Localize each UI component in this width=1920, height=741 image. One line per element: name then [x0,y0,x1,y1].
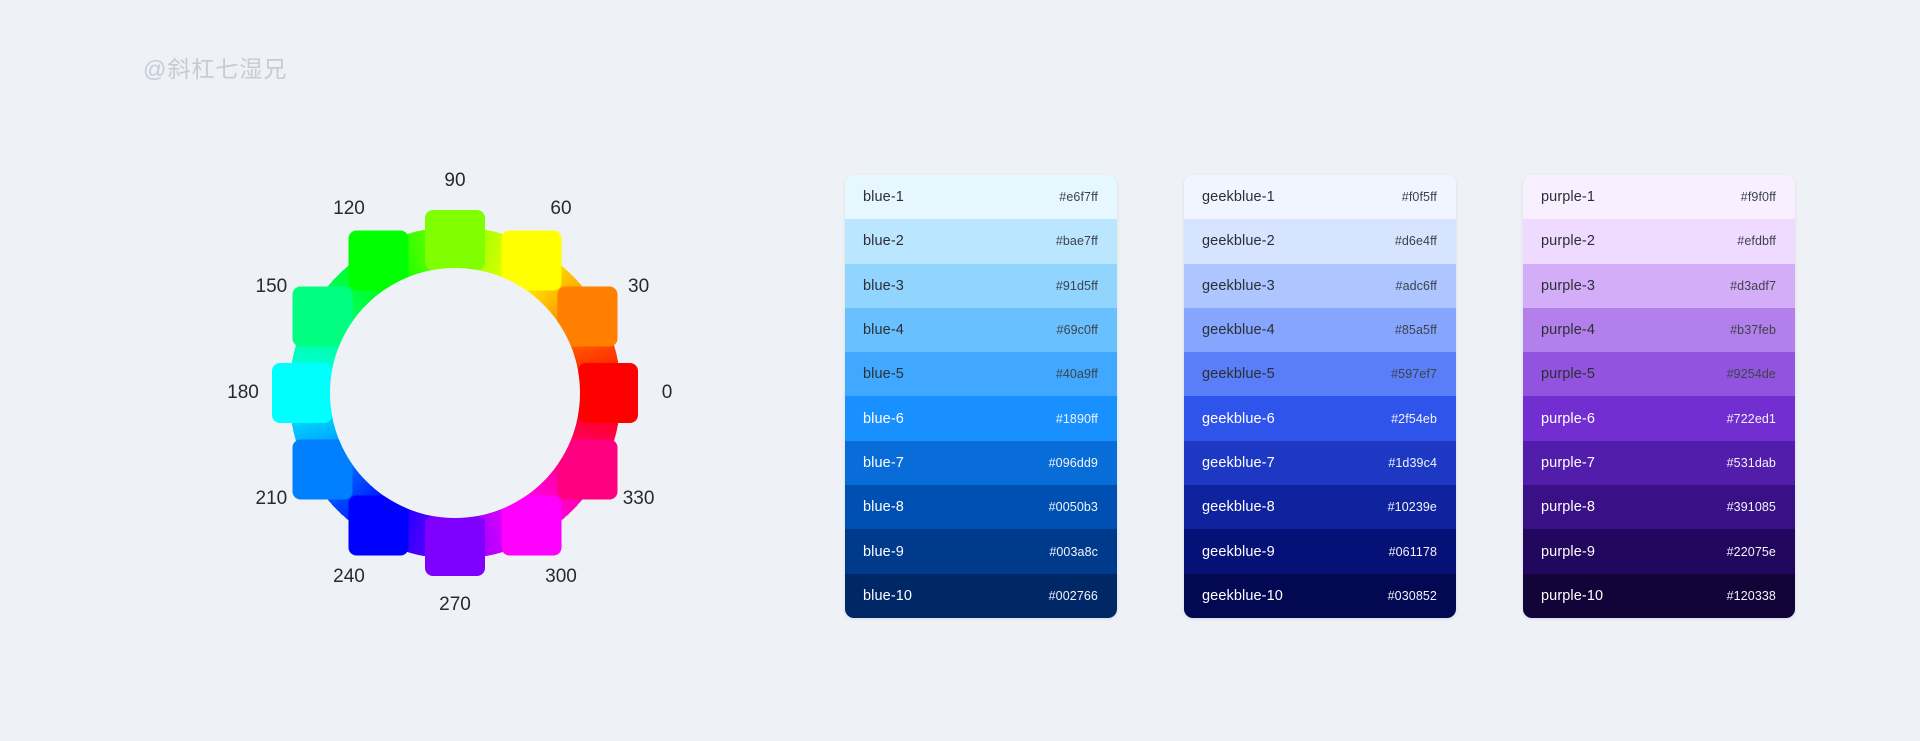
swatch-row[interactable]: geekblue-7#1d39c4 [1184,441,1456,485]
swatch-hex-value: #22075e [1727,545,1776,559]
swatch-hex-value: #002766 [1049,589,1098,603]
swatch-hex-value: #030852 [1388,589,1437,603]
swatch-name: blue-6 [863,411,904,427]
swatch-name: purple-10 [1541,588,1603,604]
swatch-row[interactable]: geekblue-8#10239e [1184,485,1456,529]
swatch-name: geekblue-2 [1202,233,1275,249]
swatch-row[interactable]: blue-9#003a8c [845,529,1117,573]
hue-label-150: 150 [256,276,288,298]
wheel-inner-hole [330,268,580,518]
swatch-hex-value: #597ef7 [1391,367,1437,381]
swatch-row[interactable]: purple-10#120338 [1523,574,1795,618]
swatch-name: purple-6 [1541,411,1595,427]
swatch-row[interactable]: geekblue-3#adc6ff [1184,264,1456,308]
swatch-hex-value: #1890ff [1056,412,1098,426]
swatch-hex-value: #2f54eb [1391,412,1437,426]
swatch-name: geekblue-9 [1202,544,1275,560]
swatch-hex-value: #061178 [1389,545,1437,559]
swatch-name: geekblue-3 [1202,278,1275,294]
swatch-hex-value: #91d5ff [1056,279,1098,293]
swatch-name: geekblue-5 [1202,366,1275,382]
swatch-name: purple-3 [1541,278,1595,294]
hue-label-300: 300 [545,566,577,588]
swatch-hex-value: #9254de [1727,367,1776,381]
hue-label-0: 0 [662,382,673,404]
swatch-name: purple-4 [1541,322,1595,338]
swatch-row[interactable]: purple-4#b37feb [1523,308,1795,352]
swatch-hex-value: #1d39c4 [1388,456,1437,470]
swatch-row[interactable]: geekblue-6#2f54eb [1184,396,1456,440]
swatch-row[interactable]: purple-7#531dab [1523,441,1795,485]
hue-label-120: 120 [333,198,365,220]
hue-swatch-90[interactable] [425,210,485,270]
swatch-name: blue-1 [863,189,904,205]
swatch-name: geekblue-8 [1202,499,1275,515]
swatch-hex-value: #10239e [1388,500,1437,514]
hue-label-210: 210 [256,488,288,510]
hue-label-330: 330 [623,488,655,510]
color-wheel: 0306090120150180210240270300330 [175,110,755,680]
swatch-row[interactable]: purple-9#22075e [1523,529,1795,573]
swatch-row[interactable]: geekblue-1#f0f5ff [1184,175,1456,219]
swatch-name: blue-4 [863,322,904,338]
swatch-name: geekblue-6 [1202,411,1275,427]
swatch-name: geekblue-4 [1202,322,1275,338]
swatch-row[interactable]: blue-1#e6f7ff [845,175,1117,219]
swatch-hex-value: #40a9ff [1056,367,1098,381]
swatch-hex-value: #391085 [1727,500,1776,514]
swatch-row[interactable]: purple-1#f9f0ff [1523,175,1795,219]
swatch-name: geekblue-7 [1202,455,1275,471]
swatch-name: purple-7 [1541,455,1595,471]
swatch-hex-value: #bae7ff [1056,234,1098,248]
swatch-hex-value: #722ed1 [1727,412,1776,426]
swatch-name: geekblue-1 [1202,189,1275,205]
hue-label-30: 30 [628,276,649,298]
hue-swatch-180[interactable] [272,363,332,423]
hue-label-270: 270 [439,594,471,616]
swatch-hex-value: #efdbff [1737,234,1776,248]
swatch-hex-value: #85a5ff [1395,323,1437,337]
swatch-row[interactable]: geekblue-5#597ef7 [1184,352,1456,396]
hue-label-60: 60 [550,198,571,220]
hue-label-240: 240 [333,566,365,588]
swatch-hex-value: #f9f0ff [1741,190,1776,204]
swatch-row[interactable]: blue-3#91d5ff [845,264,1117,308]
swatch-hex-value: #d6e4ff [1395,234,1437,248]
swatch-hex-value: #adc6ff [1396,279,1437,293]
swatch-row[interactable]: purple-5#9254de [1523,352,1795,396]
swatch-hex-value: #0050b3 [1049,500,1098,514]
swatch-row[interactable]: purple-6#722ed1 [1523,396,1795,440]
swatch-row[interactable]: geekblue-10#030852 [1184,574,1456,618]
swatch-row[interactable]: geekblue-9#061178 [1184,529,1456,573]
palette-card-geekblue: geekblue-1#f0f5ffgeekblue-2#d6e4ffgeekbl… [1184,175,1456,618]
hue-swatch-0[interactable] [578,363,638,423]
swatch-row[interactable]: blue-8#0050b3 [845,485,1117,529]
swatch-row[interactable]: purple-3#d3adf7 [1523,264,1795,308]
swatch-name: blue-2 [863,233,904,249]
swatch-hex-value: #d3adf7 [1730,279,1776,293]
swatch-name: blue-3 [863,278,904,294]
swatch-row[interactable]: blue-5#40a9ff [845,352,1117,396]
swatch-row[interactable]: blue-7#096dd9 [845,441,1117,485]
swatch-hex-value: #e6f7ff [1059,190,1098,204]
swatch-row[interactable]: geekblue-4#85a5ff [1184,308,1456,352]
swatch-row[interactable]: geekblue-2#d6e4ff [1184,219,1456,263]
swatch-hex-value: #120338 [1727,589,1776,603]
swatch-hex-value: #003a8c [1049,545,1098,559]
swatch-row[interactable]: blue-6#1890ff [845,396,1117,440]
hue-label-180: 180 [227,382,259,404]
swatch-hex-value: #b37feb [1730,323,1776,337]
swatch-row[interactable]: blue-10#002766 [845,574,1117,618]
swatch-name: purple-8 [1541,499,1595,515]
swatch-name: blue-5 [863,366,904,382]
watermark: @斜杠七湿兄 [143,50,287,84]
swatch-row[interactable]: blue-2#bae7ff [845,219,1117,263]
swatch-hex-value: #096dd9 [1049,456,1098,470]
swatch-hex-value: #f0f5ff [1402,190,1437,204]
swatch-name: purple-9 [1541,544,1595,560]
swatch-row[interactable]: blue-4#69c0ff [845,308,1117,352]
swatch-name: purple-5 [1541,366,1595,382]
swatch-row[interactable]: purple-8#391085 [1523,485,1795,529]
swatch-name: purple-1 [1541,189,1595,205]
hue-label-90: 90 [444,170,465,192]
swatch-name: blue-10 [863,588,912,604]
hue-swatch-270[interactable] [425,516,485,576]
swatch-hex-value: #69c0ff [1057,323,1098,337]
swatch-hex-value: #531dab [1727,456,1776,470]
swatch-name: blue-9 [863,544,904,560]
swatch-row[interactable]: purple-2#efdbff [1523,219,1795,263]
palette-card-purple: purple-1#f9f0ffpurple-2#efdbffpurple-3#d… [1523,175,1795,618]
swatch-name: blue-7 [863,455,904,471]
palette-card-blue: blue-1#e6f7ffblue-2#bae7ffblue-3#91d5ffb… [845,175,1117,618]
palette-columns: blue-1#e6f7ffblue-2#bae7ffblue-3#91d5ffb… [845,175,1795,618]
swatch-name: purple-2 [1541,233,1595,249]
swatch-name: blue-8 [863,499,904,515]
swatch-name: geekblue-10 [1202,588,1283,604]
